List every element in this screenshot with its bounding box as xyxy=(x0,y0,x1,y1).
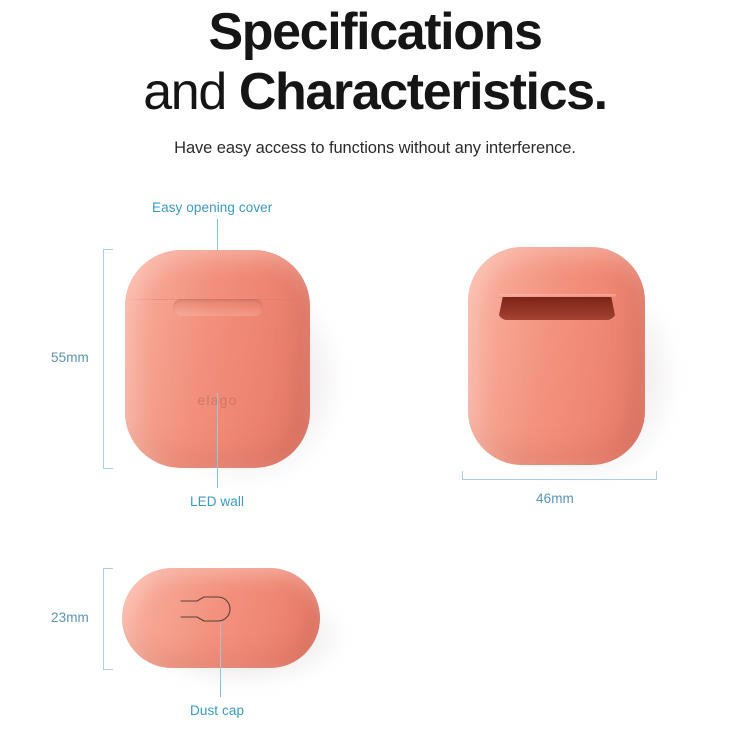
page-subtitle: Have easy access to functions without an… xyxy=(0,122,750,158)
callout-label-led-wall: LED wall xyxy=(190,494,244,510)
page-title-bold-part: Characteristics. xyxy=(239,63,607,121)
header: Specifications and Characteristics. Have… xyxy=(0,0,750,158)
dust-cap-outline xyxy=(180,596,232,622)
callout-label-easy-opening-cover: Easy opening cover xyxy=(152,200,272,216)
page-title-line-1: Specifications xyxy=(0,0,750,62)
dimension-bracket-height-55mm xyxy=(103,249,113,469)
page-title-line-2: and Characteristics. xyxy=(0,62,750,122)
dimension-label-23mm: 23mm xyxy=(51,610,89,626)
page-title-light-part: and xyxy=(143,63,239,121)
leader-line-dust-cap xyxy=(220,622,221,697)
dimension-label-55mm: 55mm xyxy=(51,350,89,366)
callout-label-dust-cap: Dust cap xyxy=(190,703,244,719)
grip-indent xyxy=(173,299,263,316)
side-case-body xyxy=(468,247,645,465)
dimension-bracket-depth-23mm xyxy=(103,568,113,670)
dimension-label-46mm: 46mm xyxy=(536,491,574,507)
lid-opening-slot xyxy=(498,297,616,320)
dimension-bracket-width-46mm xyxy=(462,471,657,480)
bottom-case-body xyxy=(122,568,320,668)
leader-line-led-wall xyxy=(217,393,218,488)
